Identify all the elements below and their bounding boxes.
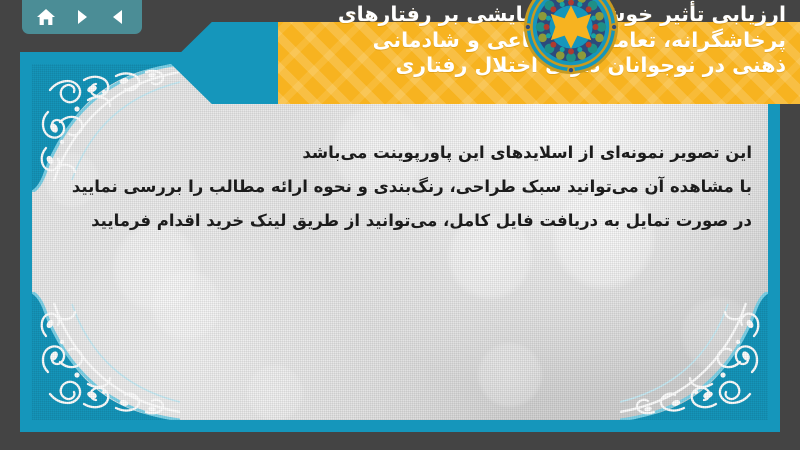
- corner-flourish-icon: [620, 292, 768, 420]
- bokeh-circle: [477, 342, 543, 408]
- body-line: این تصویر نمونه‌ای از اسلایدهای این پاور…: [56, 136, 752, 170]
- corner-flourish-icon: [32, 292, 180, 420]
- navigation-bar: [22, 0, 142, 34]
- body-line: با مشاهده آن می‌توانید سبک طراحی، رنگ‌بن…: [56, 170, 752, 204]
- slide-body-text: این تصویر نمونه‌ای از اسلایدهای این پاور…: [56, 136, 752, 238]
- home-icon: [36, 8, 56, 27]
- slide-frame: این تصویر نمونه‌ای از اسلایدهای این پاور…: [20, 52, 780, 432]
- bokeh-circle: [246, 364, 304, 420]
- next-slide-button[interactable]: [67, 4, 97, 30]
- home-button[interactable]: [31, 4, 61, 30]
- slide-viewer: این تصویر نمونه‌ای از اسلایدهای این پاور…: [0, 0, 800, 450]
- bokeh-circle: [680, 296, 756, 372]
- chevron-right-icon: [73, 8, 91, 26]
- slide-canvas: این تصویر نمونه‌ای از اسلایدهای این پاور…: [32, 64, 768, 420]
- bokeh-circle: [150, 269, 222, 341]
- chevron-left-icon: [109, 8, 127, 26]
- body-line: در صورت تمایل به دریافت فایل کامل، می‌تو…: [56, 204, 752, 238]
- previous-slide-button[interactable]: [103, 4, 133, 30]
